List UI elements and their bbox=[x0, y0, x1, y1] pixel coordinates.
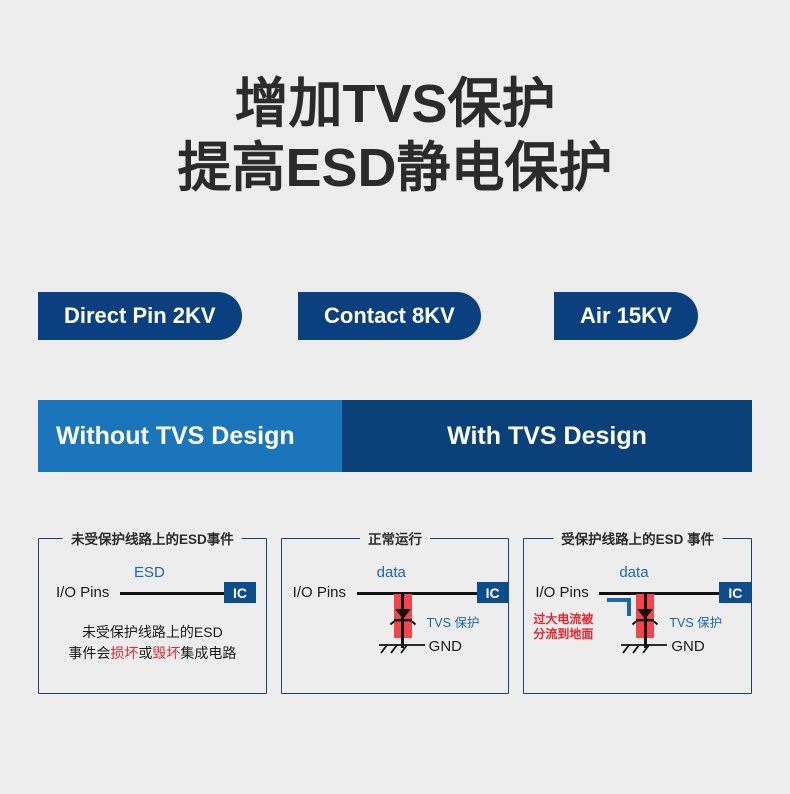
ic-box: IC bbox=[477, 582, 509, 603]
signal-wire bbox=[120, 592, 226, 595]
diagram-panel-row: 未受保护线路上的ESD事件 I/O Pins ESD IC 未受保护线路上的ES… bbox=[38, 538, 752, 694]
panel-caption: 未受保护线路上的ESD 事件会损坏或毁坏集成电路 bbox=[38, 622, 267, 664]
caption-line-2: 事件会损坏或毁坏集成电路 bbox=[38, 643, 267, 664]
note-line-2: 分流到地面 bbox=[533, 627, 593, 642]
caption-part-c: 集成电路 bbox=[180, 645, 236, 661]
tvs-diode-symbol bbox=[631, 604, 659, 626]
panel-normal-operation: 正常运行 I/O Pins data IC bbox=[281, 538, 510, 694]
gnd-label: GND bbox=[429, 638, 462, 655]
panel-body: I/O Pins ESD IC 未受保护线路上的ESD 事件会损坏或毁坏集成电路 bbox=[38, 538, 267, 694]
signal-label-data: data bbox=[619, 564, 648, 581]
signal-wire bbox=[599, 592, 721, 595]
panel-body: I/O Pins data IC bbox=[523, 538, 752, 694]
panel-legend-protected: 受保护线路上的ESD 事件 bbox=[553, 528, 722, 548]
panel-protected-esd: 受保护线路上的ESD 事件 I/O Pins data IC bbox=[523, 538, 752, 694]
caption-part-a: 事件会 bbox=[68, 645, 110, 661]
spec-pill-row: Direct Pin 2KV Contact 8KV Air 15KV bbox=[0, 292, 790, 340]
panel-legend-normal: 正常运行 bbox=[360, 528, 430, 548]
gnd-label: GND bbox=[671, 638, 704, 655]
spec-pill-air[interactable]: Air 15KV bbox=[554, 292, 698, 340]
ic-box: IC bbox=[224, 582, 256, 603]
io-pins-label: I/O Pins bbox=[293, 584, 346, 601]
caption-line-1: 未受保护线路上的ESD bbox=[38, 622, 267, 643]
panel-legend-unprotected: 未受保护线路上的ESD事件 bbox=[63, 528, 242, 548]
ground-symbol bbox=[619, 642, 669, 660]
signal-label-esd: ESD bbox=[134, 564, 165, 581]
caption-red-2: 毁坏 bbox=[152, 645, 180, 661]
title-line-1: 增加TVS保护 bbox=[0, 72, 790, 136]
tvs-diode-symbol bbox=[389, 604, 417, 626]
io-pins-label: I/O Pins bbox=[56, 584, 109, 601]
signal-wire bbox=[357, 592, 479, 595]
tvs-protection-label: TVS 保护 bbox=[669, 612, 722, 631]
panel-body: I/O Pins data IC bbox=[281, 538, 510, 694]
signal-label-data: data bbox=[377, 564, 406, 581]
caption-red-1: 损坏 bbox=[110, 645, 138, 661]
ground-symbol bbox=[377, 642, 427, 660]
current-divert-note: 过大电流被 分流到地面 bbox=[533, 612, 593, 642]
spec-pill-contact[interactable]: Contact 8KV bbox=[298, 292, 481, 340]
bar-without-tvs: Without TVS Design bbox=[38, 400, 342, 472]
ic-box: IC bbox=[719, 582, 751, 603]
spec-pill-direct-pin[interactable]: Direct Pin 2KV bbox=[38, 292, 242, 340]
page-title: 增加TVS保护 提高ESD静电保护 bbox=[0, 72, 790, 200]
panel-unprotected: 未受保护线路上的ESD事件 I/O Pins ESD IC 未受保护线路上的ES… bbox=[38, 538, 267, 694]
comparison-bar-row: Without TVS Design With TVS Design bbox=[38, 400, 752, 472]
io-pins-label: I/O Pins bbox=[535, 584, 588, 601]
tvs-protection-label: TVS 保护 bbox=[427, 612, 480, 631]
bar-with-tvs: With TVS Design bbox=[342, 400, 752, 472]
note-line-1: 过大电流被 bbox=[533, 612, 593, 627]
poster-root: 增加TVS保护 提高ESD静电保护 Direct Pin 2KV Contact… bbox=[0, 0, 790, 794]
caption-part-b: 或 bbox=[138, 645, 152, 661]
title-line-2: 提高ESD静电保护 bbox=[0, 136, 790, 200]
